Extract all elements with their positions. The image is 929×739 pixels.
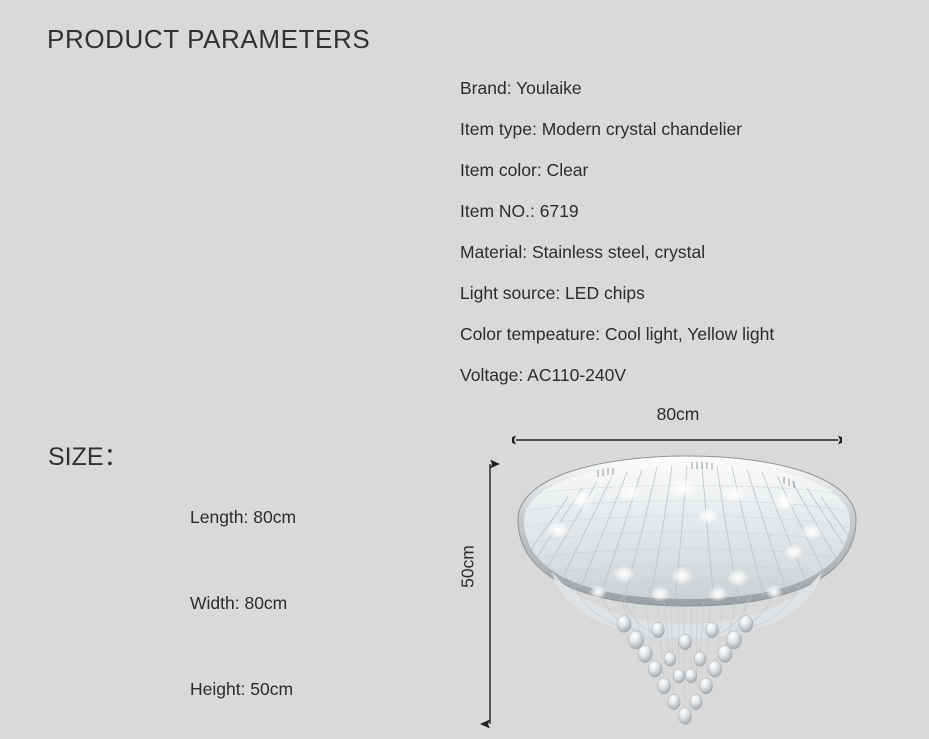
- product-parameters-page: PRODUCT PARAMETERS Brand: Youlaike Item …: [0, 0, 929, 739]
- size-row-length: Length: 80cm: [190, 474, 440, 560]
- page-title: PRODUCT PARAMETERS: [47, 24, 370, 55]
- double-arrow-vertical-icon: [480, 460, 500, 728]
- spec-row-color-temperature: Color tempeature: Cool light, Yellow lig…: [460, 314, 900, 355]
- spec-row-voltage: Voltage: AC110-240V: [460, 355, 900, 396]
- width-dimension-label: 80cm: [640, 404, 716, 425]
- spec-row-item-type: Item type: Modern crystal chandelier: [460, 109, 900, 150]
- size-list: Length: 80cm Width: 80cm Height: 50cm: [190, 474, 440, 732]
- spec-row-item-color: Item color: Clear: [460, 150, 900, 191]
- spec-row-light-source: Light source: LED chips: [460, 273, 900, 314]
- spec-row-item-no: Item NO.: 6719: [460, 191, 900, 232]
- size-section-heading: SIZE：: [48, 437, 129, 473]
- chandelier-product-image: [512, 452, 862, 737]
- size-row-height: Height: 50cm: [190, 646, 440, 732]
- size-row-width: Width: 80cm: [190, 560, 440, 646]
- specification-list: Brand: Youlaike Item type: Modern crysta…: [460, 68, 900, 396]
- spec-row-brand: Brand: Youlaike: [460, 68, 900, 109]
- double-arrow-horizontal-icon: [512, 430, 842, 450]
- height-dimension-label: 50cm: [458, 529, 479, 605]
- spec-row-material: Material: Stainless steel, crystal: [460, 232, 900, 273]
